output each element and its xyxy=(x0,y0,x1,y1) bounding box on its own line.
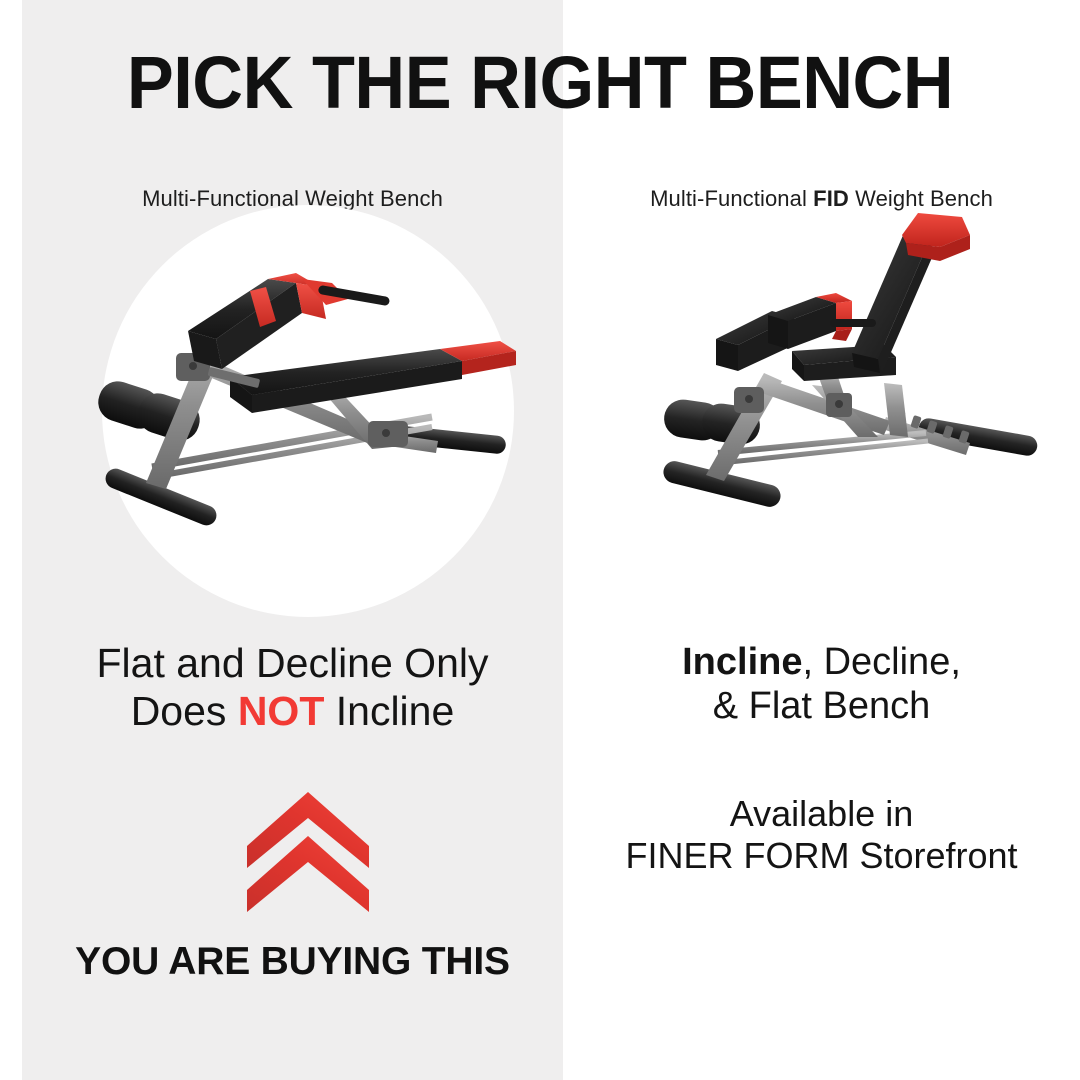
double-chevron-up-icon xyxy=(243,788,373,913)
left-statement-emphasis: NOT xyxy=(238,688,325,734)
right-statement: Incline, Decline, & Flat Bench xyxy=(563,640,1080,728)
left-statement-line2: Does NOT Incline xyxy=(22,688,563,736)
left-statement-suffix: Incline xyxy=(324,688,454,734)
right-statement-line2: & Flat Bench xyxy=(563,684,1080,728)
page-title: PICK THE RIGHT BENCH xyxy=(27,46,1053,120)
left-product-image xyxy=(80,235,550,565)
right-statement-line1: Incline, Decline, xyxy=(563,640,1080,684)
right-bench-handle xyxy=(830,319,876,327)
left-statement-line1: Flat and Decline Only xyxy=(22,640,563,688)
infographic-canvas: PICK THE RIGHT BENCH Multi-Functional We… xyxy=(0,0,1080,1080)
right-statement-rest: , Decline, xyxy=(802,641,960,683)
right-statement-bold: Incline xyxy=(682,641,802,683)
availability-note: Available in FINER FORM Storefront xyxy=(563,793,1080,878)
availability-line2: FINER FORM Storefront xyxy=(563,835,1080,877)
right-product-image xyxy=(640,205,1060,565)
availability-line1: Available in xyxy=(563,793,1080,835)
left-statement-prefix: Does xyxy=(131,688,238,734)
left-statement: Flat and Decline Only Does NOT Incline xyxy=(22,640,563,735)
right-bench-head-pad xyxy=(902,213,970,261)
buying-this-banner: YOU ARE BUYING THIS xyxy=(22,940,563,984)
right-bench-frame xyxy=(706,371,908,481)
